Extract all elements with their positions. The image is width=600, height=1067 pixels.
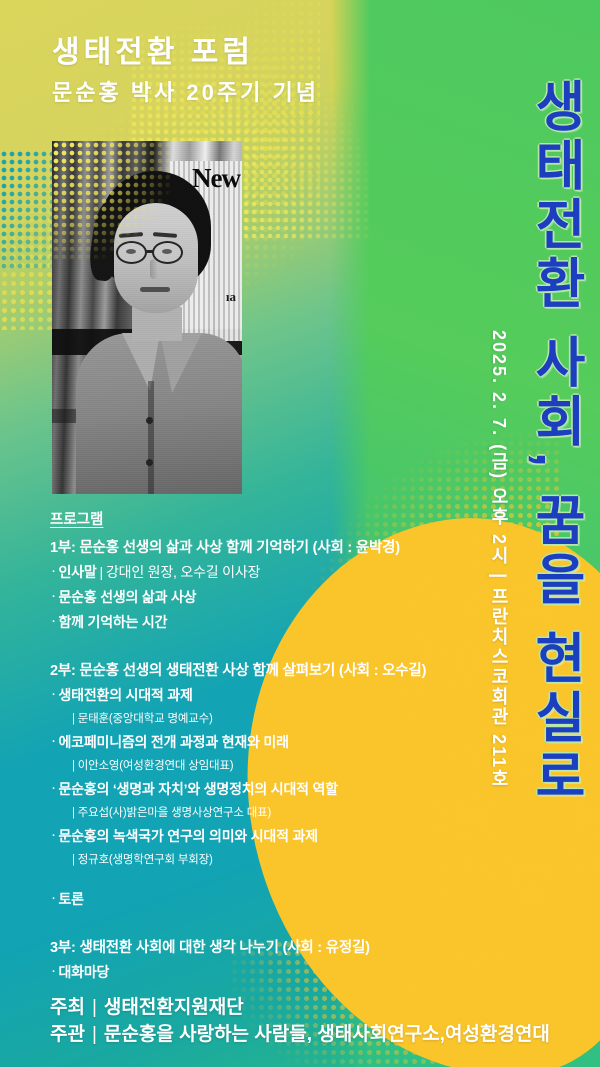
part2-item-title: 에코페미니즘의 전개 과정과 현재와 미래: [58, 734, 288, 750]
part2-item: ·문순홍의 녹색국가 연구의 의미와 시대적 과제: [50, 826, 480, 846]
part2-item: ·문순홍의 ‘생명과 자치’와 생명정치의 시대적 역할: [50, 779, 480, 799]
program-heading: 프로그램: [50, 508, 480, 529]
discussion-title: 토론: [58, 891, 83, 907]
poster-header: 생태전환 포럼 문순홍 박사 20주기 기념: [52, 34, 319, 109]
bullet-dot-icon: ·: [52, 689, 55, 701]
event-poster: 생태전환 포럼 문순홍 박사 20주기 기념 New ıa: [0, 0, 600, 1067]
bullet-dot-icon: ·: [52, 830, 55, 842]
portrait-photo: New ıa: [52, 141, 242, 494]
bullet-dot-icon: ·: [52, 591, 55, 603]
part1-item: ·함께 기억하는 시간: [50, 612, 480, 632]
separator-bar: |: [92, 1024, 97, 1045]
part2-discussion-item: ·토론: [50, 889, 480, 909]
part1-item-title: 함께 기억하는 시간: [58, 614, 167, 630]
part3-heading: 3부: 생태전환 사회에 대한 생각 나누기 (사회 : 유정길): [50, 936, 480, 957]
memorial-subtitle: 문순홍 박사 20주기 기념: [52, 76, 319, 109]
bullet-dot-icon: ·: [52, 783, 55, 795]
part3-item-title: 대화마당: [58, 964, 109, 980]
part1-item-title: 문순홍 선생의 삶과 사상: [58, 589, 196, 605]
part1-heading: 1부: 문순홍 선생의 삶과 사상 함께 기억하기 (사회 : 윤박경): [50, 536, 480, 557]
bullet-dot-icon: ·: [52, 966, 55, 978]
forum-title: 생태전환 포럼: [52, 34, 319, 72]
host-line: 주최|생태전환지원재단: [50, 995, 550, 1022]
halftone-overlay-on-photo: [52, 141, 170, 259]
organizer-line: 주관|문순홍을 사랑하는 사람들, 생태사회연구소,여성환경연대: [50, 1022, 550, 1049]
bullet-dot-icon: ·: [52, 893, 55, 905]
part2-item: ·생태전환의 시대적 과제: [50, 685, 480, 705]
part2-speaker: | 문태훈(중앙대학교 명예교수): [72, 710, 480, 726]
part1-item-detail: 강대인 원장, 오수길 이사장: [106, 564, 260, 580]
host-value: 생태전환지원재단: [104, 997, 244, 1018]
bullet-dot-icon: ·: [52, 736, 55, 748]
host-label: 주최: [50, 997, 85, 1018]
part1-item: ·인사말|강대인 원장, 오수길 이사장: [50, 562, 480, 582]
separator-bar: |: [100, 564, 103, 580]
part2-item-title: 문순홍의 녹색국가 연구의 의미와 시대적 과제: [58, 828, 317, 844]
separator-bar: |: [92, 997, 97, 1018]
section-spacer: [50, 914, 480, 936]
section-spacer: [50, 637, 480, 659]
bullet-dot-icon: ·: [52, 616, 55, 628]
vertical-main-title: 생태전환 사회, 꿈을 현실로: [527, 78, 582, 807]
poster-footer: 주최|생태전환지원재단 주관|문순홍을 사랑하는 사람들, 생태사회연구소,여성…: [50, 995, 550, 1049]
organizer-label: 주관: [50, 1024, 85, 1045]
vertical-date-venue: 2025. 2. 7. (금) 오후 2시 | 프란치스코회관 211호: [486, 330, 512, 789]
part2-heading: 2부: 문순홍 선생의 생태전환 사상 함께 살펴보기 (사회 : 오수길): [50, 659, 480, 680]
organizer-value: 문순홍을 사랑하는 사람들, 생태사회연구소,여성환경연대: [104, 1024, 550, 1045]
part2-speaker: | 이안소영(여성환경연대 상임대표): [72, 757, 480, 773]
part1-item-title: 인사말: [58, 564, 96, 580]
part2-speaker: | 주요섭(사)밝은마을 생명사상연구소 대표): [72, 804, 480, 820]
program-section: 프로그램 1부: 문순홍 선생의 삶과 사상 함께 기억하기 (사회 : 윤박경…: [50, 508, 480, 987]
section-spacer: [50, 873, 480, 889]
part2-item: ·에코페미니즘의 전개 과정과 현재와 미래: [50, 732, 480, 752]
part2-item-title: 문순홍의 ‘생명과 자치’와 생명정치의 시대적 역할: [58, 781, 337, 797]
part1-item: ·문순홍 선생의 삶과 사상: [50, 587, 480, 607]
part2-item-title: 생태전환의 시대적 과제: [58, 687, 192, 703]
part2-speaker: | 정규호(생명학연구회 부회장): [72, 851, 480, 867]
bullet-dot-icon: ·: [52, 566, 55, 578]
part3-item: ·대화마당: [50, 962, 480, 982]
